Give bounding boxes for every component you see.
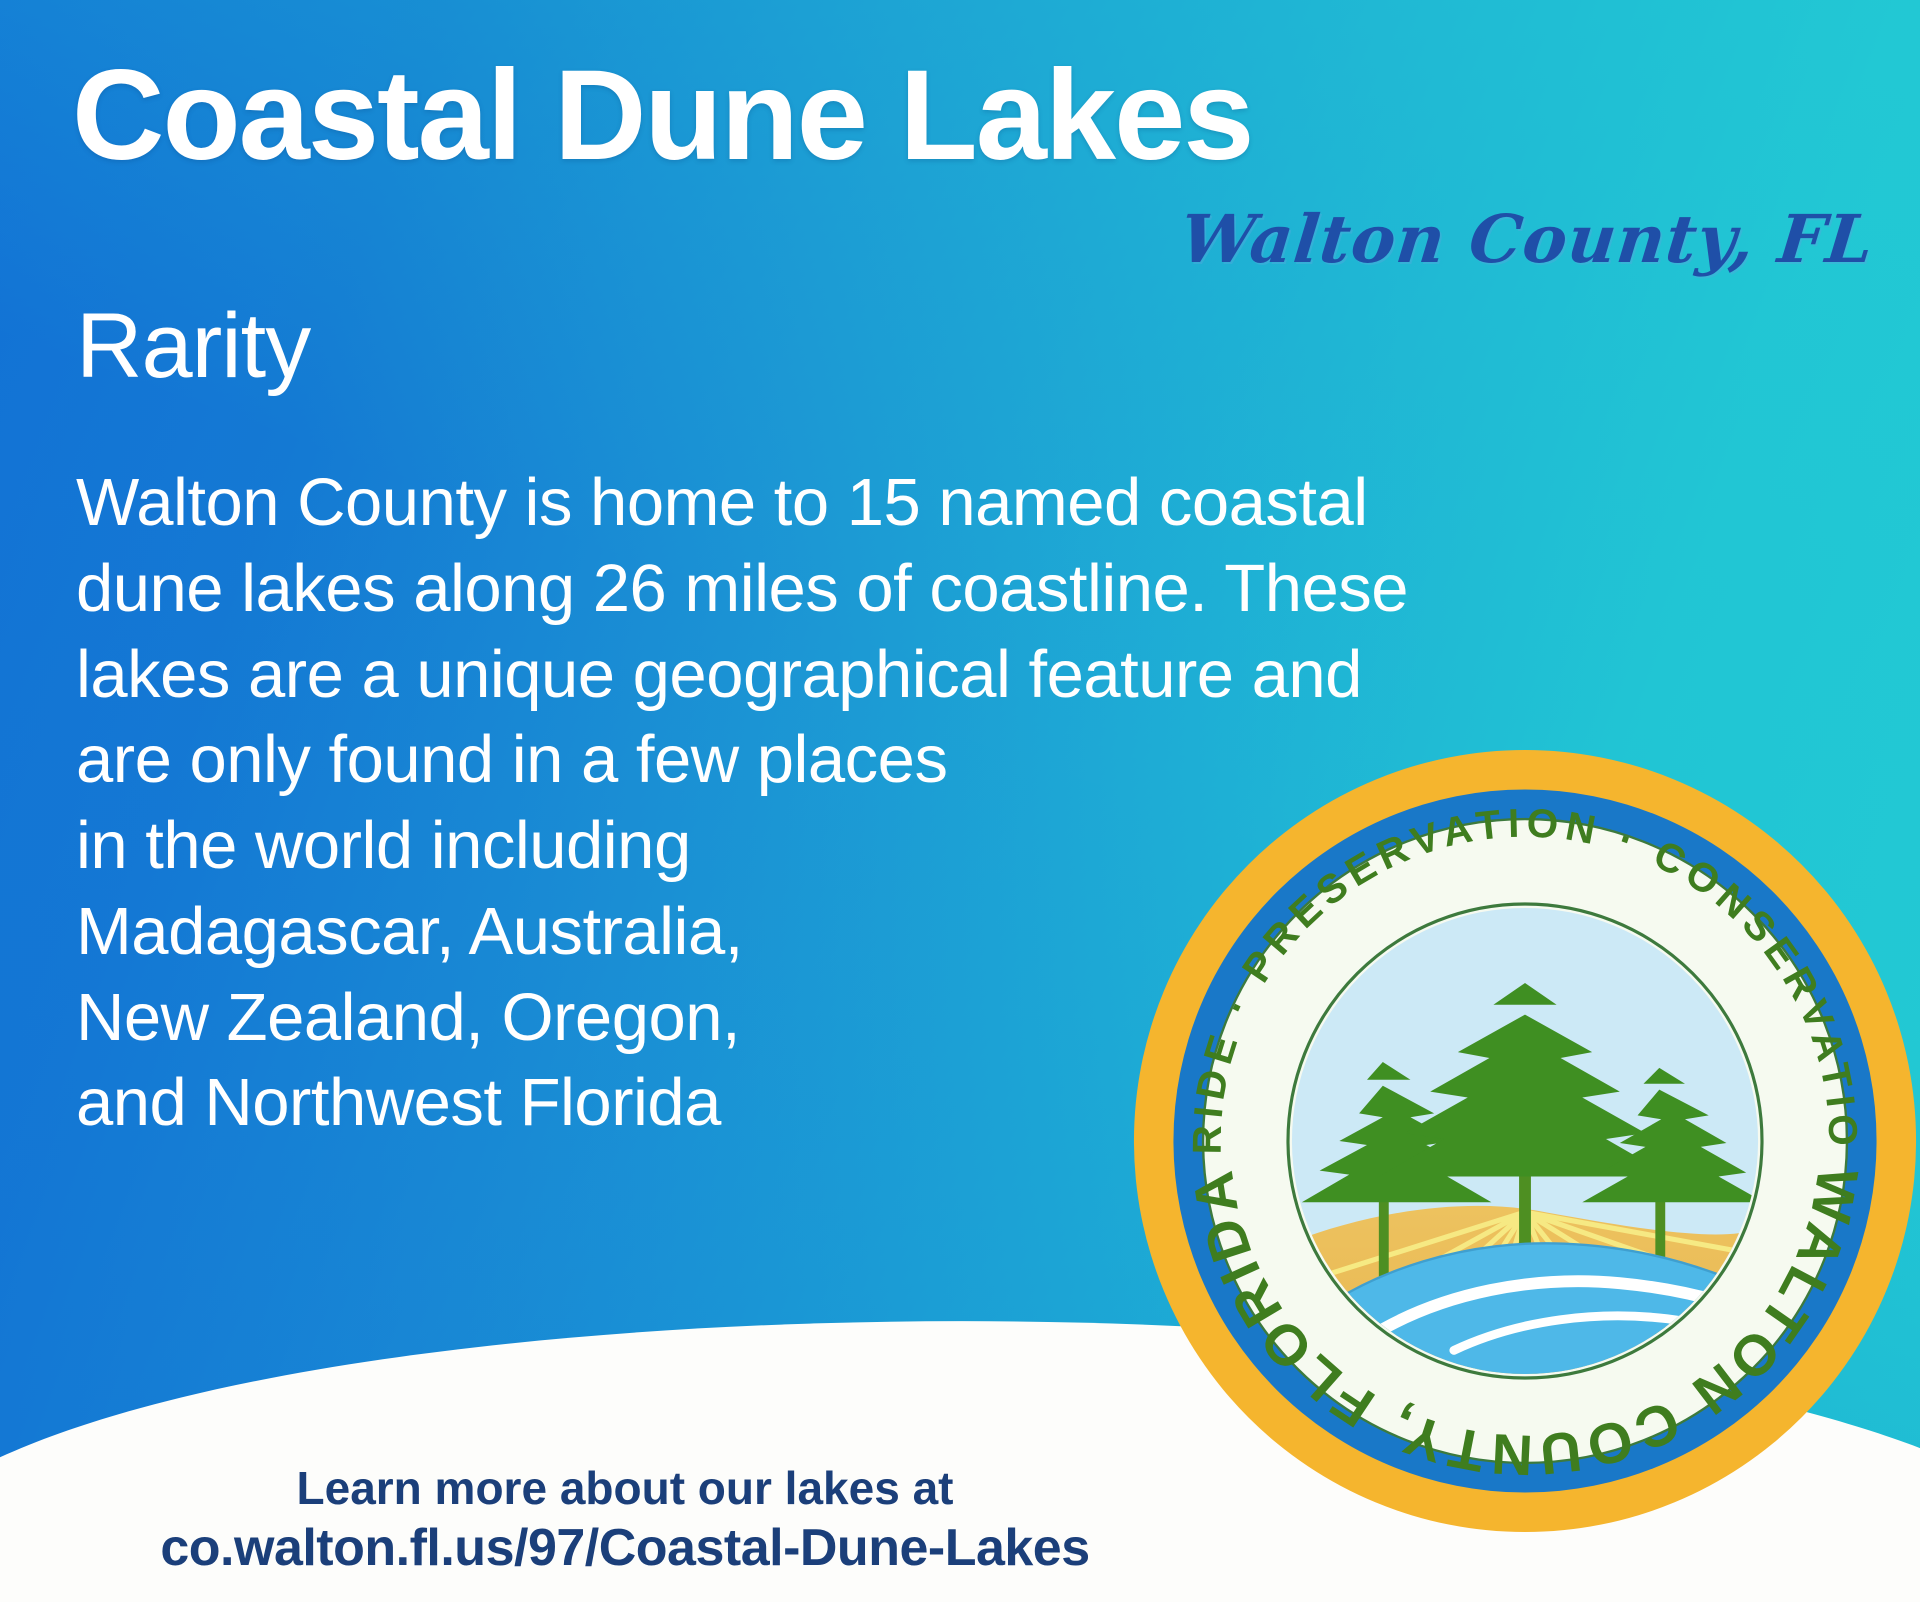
body-line: dune lakes along 26 miles of coastline. … [76,546,1306,632]
body-line: lakes are a unique geographical feature … [76,632,1306,718]
page-title: Coastal Dune Lakes [72,52,1252,180]
body-line: in the world including [76,803,1306,889]
body-line: Walton County is home to 15 named coasta… [76,460,1306,546]
body-line: are only found in a few places [76,717,1306,803]
body-line: and Northwest Florida [76,1060,1306,1146]
county-script-label: Walton County, FL [1177,200,1878,278]
body-line: New Zealand, Oregon, [76,975,1306,1061]
county-seal-icon: PRIDE · PRESERVATION · CONSERVATION WALT… [1130,746,1920,1536]
body-copy: Walton County is home to 15 named coasta… [76,460,1306,1146]
poster-canvas: Coastal Dune Lakes Walton County, FL Rar… [0,0,1920,1602]
section-subtitle: Rarity [76,300,310,392]
body-line: Madagascar, Australia, [76,889,1306,975]
seal-svg: PRIDE · PRESERVATION · CONSERVATION WALT… [1130,746,1920,1536]
